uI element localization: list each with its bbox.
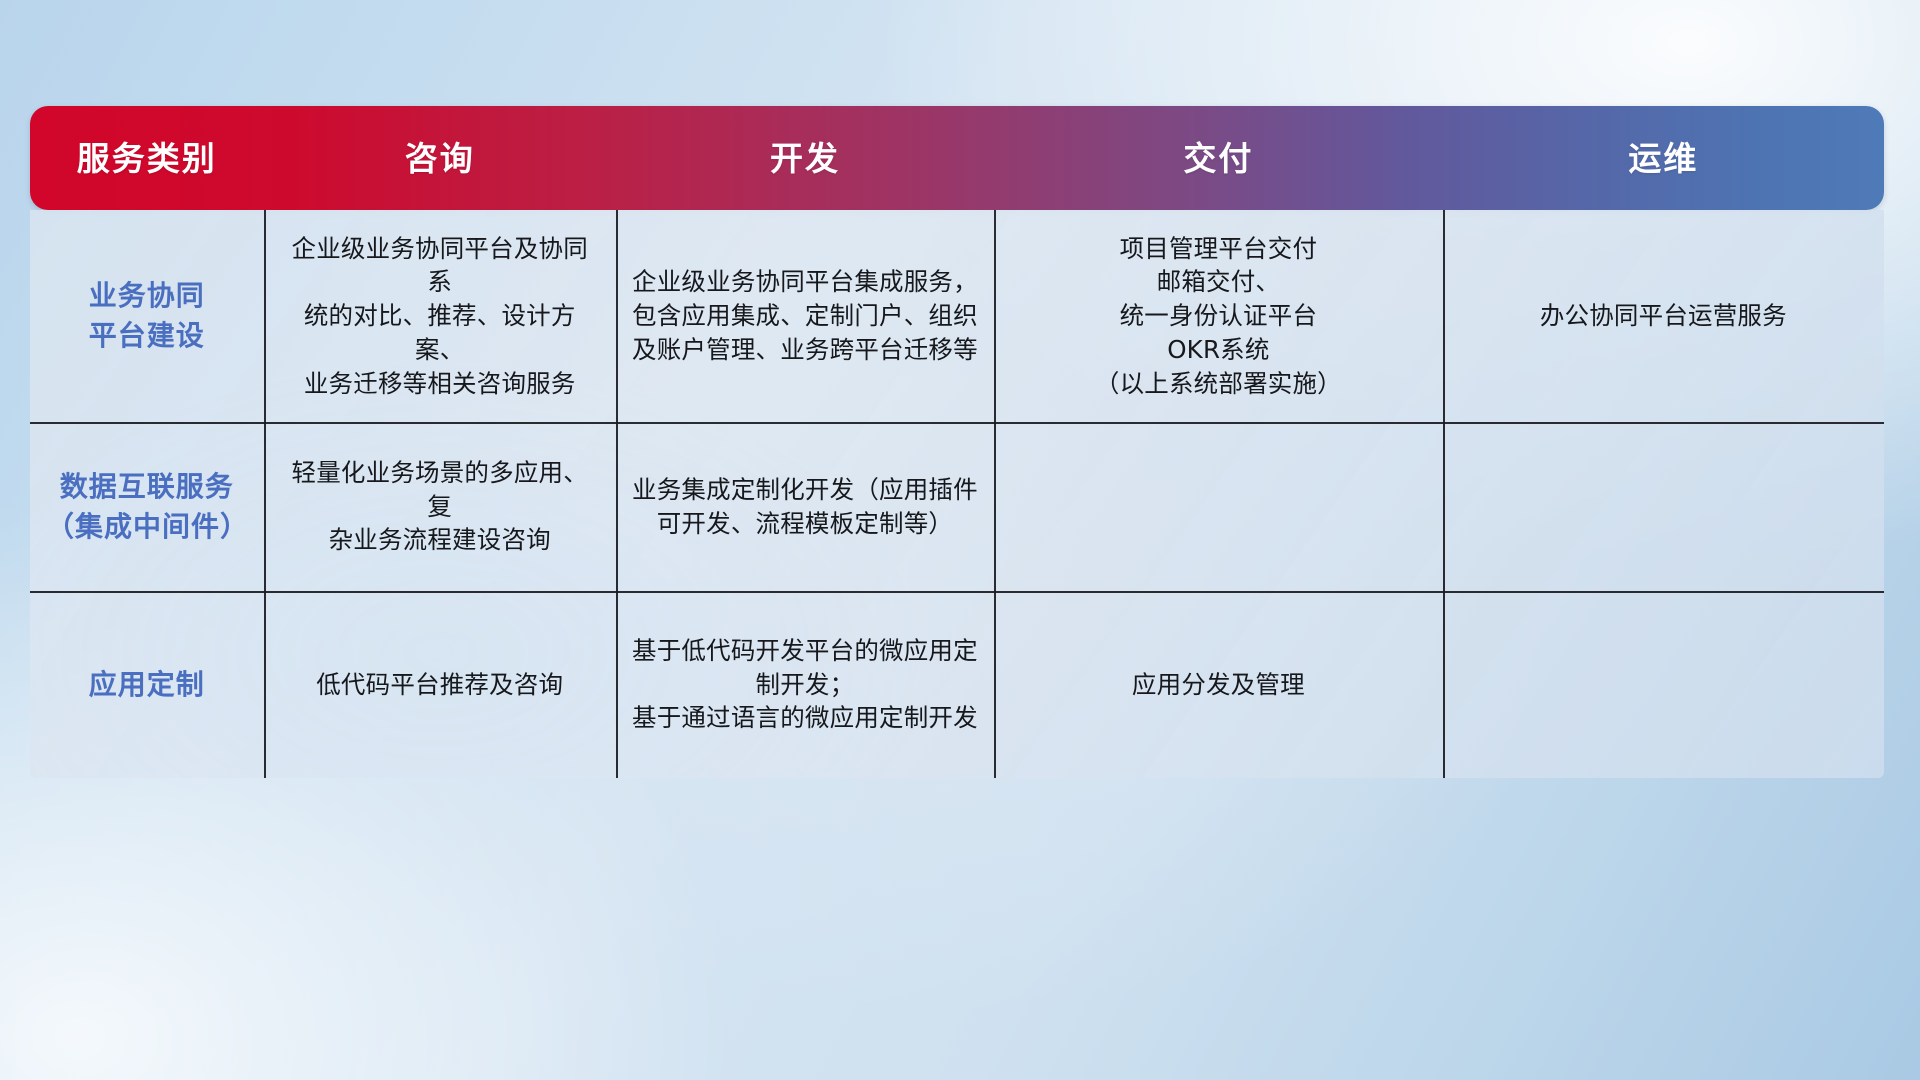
cell-r3-delivery: 应用分发及管理 [994,662,1443,708]
cell-r2-delivery [994,501,1443,513]
column-header-development: 开发 [616,142,994,175]
table-row: 数据互联服务 （集成中间件） 轻量化业务场景的多应用、复 杂业务流程建设咨询 业… [30,422,1884,591]
cell-r1-development: 企业级业务协同平台集成服务， 包含应用集成、定制门户、组织 及账户管理、业务跨平… [616,259,994,372]
row-label-app-customization: 应用定制 [30,659,264,711]
table-header-row: 服务类别 咨询 开发 交付 运维 [30,106,1884,210]
cell-r3-operations [1443,679,1884,691]
cell-r3-consulting: 低代码平台推荐及咨询 [264,662,616,708]
column-header-consulting: 咨询 [264,142,616,175]
table-row: 业务协同 平台建设 企业级业务协同平台及协同系 统的对比、推荐、设计方案、 业务… [30,210,1884,422]
row-label-data-interconnect: 数据互联服务 （集成中间件） [30,461,264,553]
table-body: 业务协同 平台建设 企业级业务协同平台及协同系 统的对比、推荐、设计方案、 业务… [30,210,1884,778]
cell-r2-development: 业务集成定制化开发（应用插件 可开发、流程模板定制等） [616,467,994,547]
cell-r2-consulting: 轻量化业务场景的多应用、复 杂业务流程建设咨询 [264,450,616,563]
column-header-operations: 运维 [1443,142,1884,175]
row-label-business-collaboration: 业务协同 平台建设 [30,270,264,362]
cell-r1-delivery: 项目管理平台交付 邮箱交付、 统一身份认证平台 OKR系统 （以上系统部署实施） [994,226,1443,407]
cell-r1-operations: 办公协同平台运营服务 [1443,293,1884,339]
cell-r1-consulting: 企业级业务协同平台及协同系 统的对比、推荐、设计方案、 业务迁移等相关咨询服务 [264,226,616,407]
column-header-delivery: 交付 [994,142,1443,175]
cell-r2-operations [1443,501,1884,513]
cell-r3-development: 基于低代码开发平台的微应用定 制开发； 基于通过语言的微应用定制开发 [616,628,994,741]
service-category-table: 服务类别 咨询 开发 交付 运维 业务协同 平台建设 企业级业务协同平台及协同系… [30,106,1884,778]
column-header-category: 服务类别 [30,142,264,175]
table-row: 应用定制 低代码平台推荐及咨询 基于低代码开发平台的微应用定 制开发； 基于通过… [30,591,1884,778]
